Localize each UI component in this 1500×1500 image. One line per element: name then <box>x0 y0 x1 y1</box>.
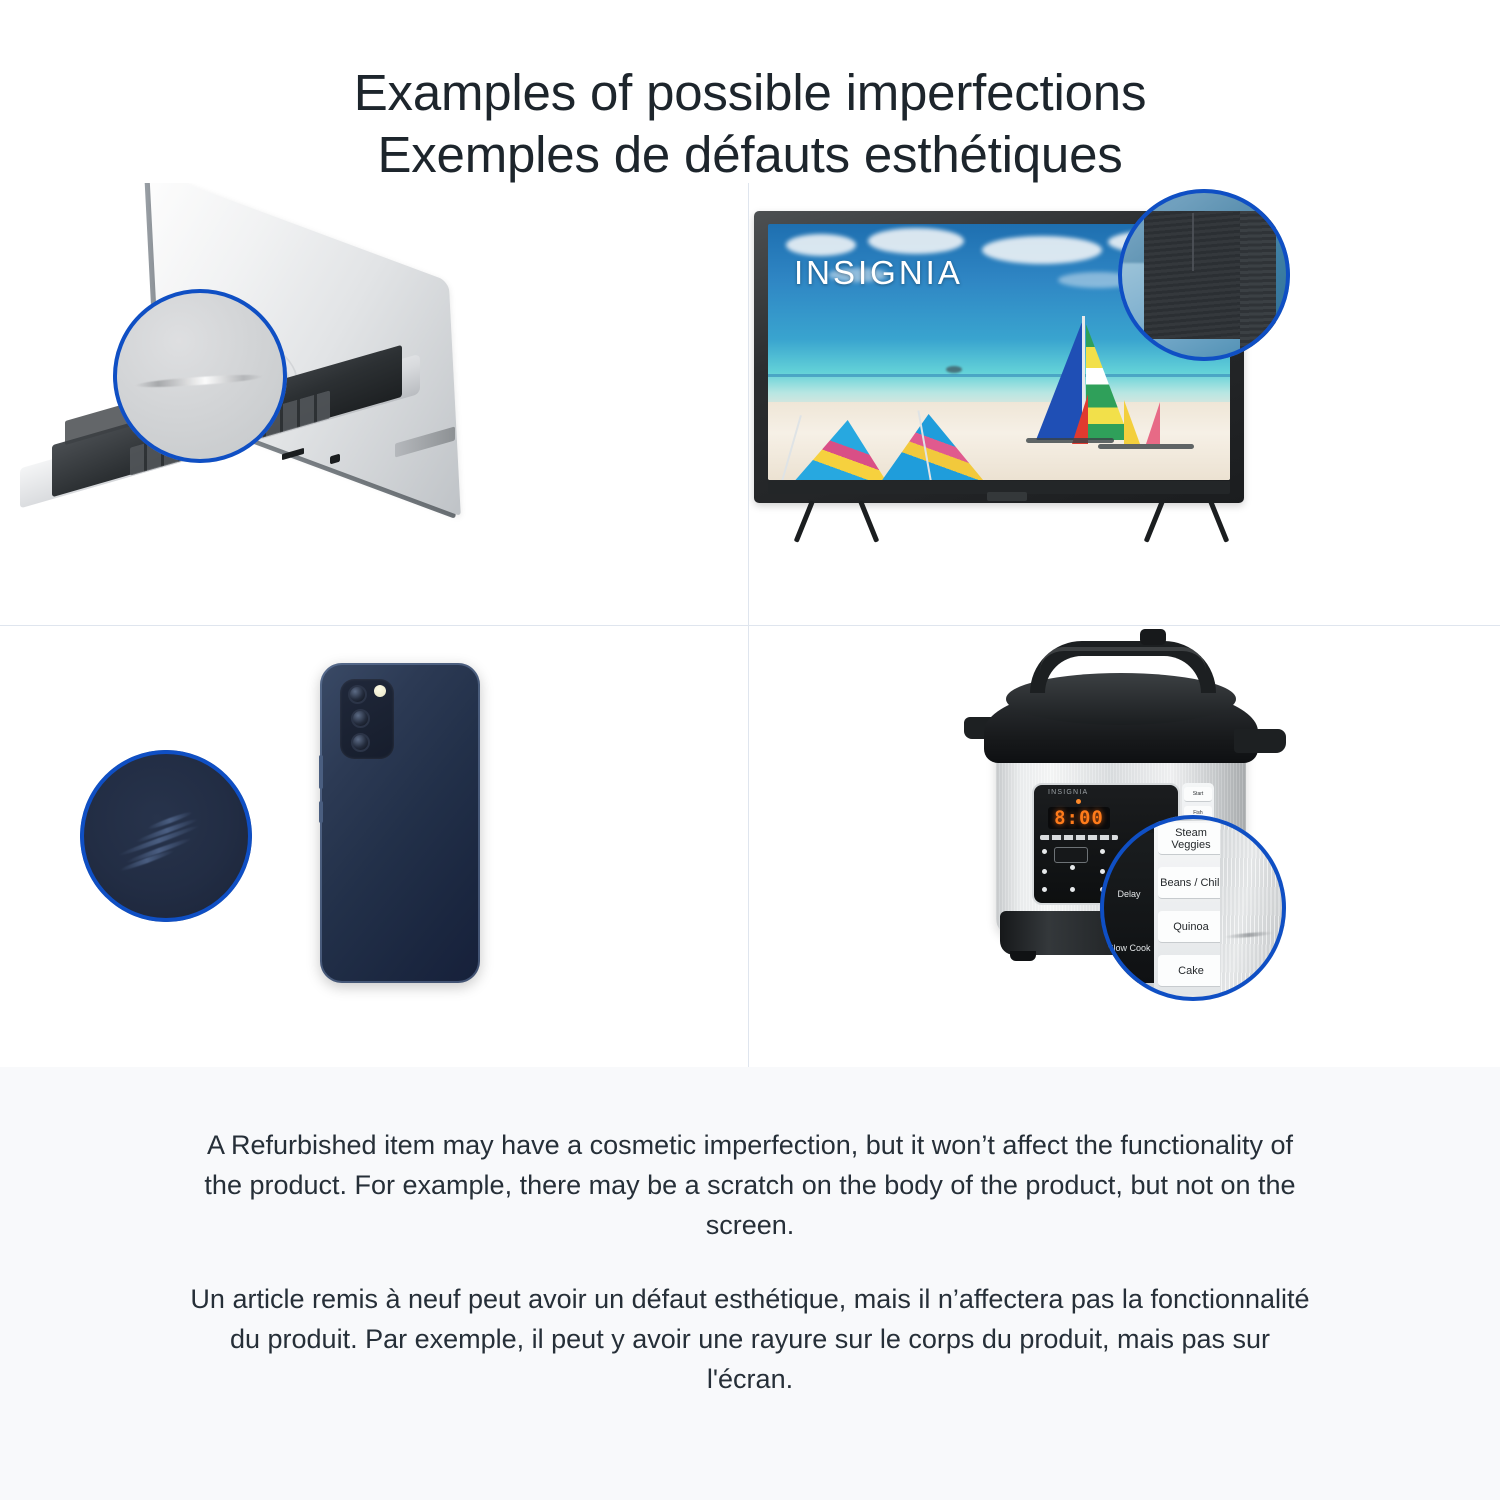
phone-power-button <box>319 801 323 823</box>
product-example-grid: INSIGNIA <box>0 183 1500 1067</box>
cooker-button-dot[interactable] <box>1070 865 1075 870</box>
cooker-side-handle-right <box>1234 729 1286 753</box>
grid-cell-television: INSIGNIA <box>748 183 1500 625</box>
tv-stand-leg-left <box>802 501 876 545</box>
page-header: Examples of possible imperfections Exemp… <box>0 0 1500 183</box>
pressure-cooker-illustration: INSIGNIA 8:00 Start Fish <box>748 625 1500 1067</box>
cooker-steam-valve <box>1140 629 1166 645</box>
camera-lens-icon <box>348 685 367 704</box>
cooker-button-dot[interactable] <box>1042 869 1047 874</box>
laptop-magnifier-ring <box>113 289 287 463</box>
sailboat-hull <box>1026 438 1114 443</box>
cooker-left-button-column[interactable] <box>1010 787 1032 905</box>
cooker-digital-display: 8:00 <box>1048 807 1110 829</box>
page-footer: A Refurbished item may have a cosmetic i… <box>0 1067 1500 1500</box>
grid-cell-smartphone <box>0 625 748 1067</box>
tv-badge <box>987 492 1027 501</box>
cooker-button-dot[interactable] <box>1070 887 1075 892</box>
tv-brand-logo: INSIGNIA <box>794 254 963 292</box>
phone-volume-button <box>319 755 323 789</box>
cooker-foot <box>1010 951 1036 961</box>
tv-stand-leg-right <box>1152 501 1226 545</box>
cloud-shape <box>982 236 1102 264</box>
laptop-illustration <box>0 183 748 625</box>
cooker-button-dot[interactable] <box>1042 849 1047 854</box>
camera-flash-icon <box>374 685 386 697</box>
tv-magnifier-ring <box>1118 189 1290 361</box>
footer-paragraph-en: A Refurbished item may have a cosmetic i… <box>190 1125 1310 1245</box>
sailboat-sail-blue <box>1036 322 1082 440</box>
infographic-page: Examples of possible imperfections Exemp… <box>0 0 1500 1500</box>
camera-lens-icon <box>351 709 370 728</box>
phone-magnifier-ring <box>80 750 252 922</box>
distant-island <box>946 366 962 373</box>
television-illustration: INSIGNIA <box>748 183 1500 625</box>
grid-cell-pressure-cooker: INSIGNIA 8:00 Start Fish <box>748 625 1500 1067</box>
cooker-button-dot[interactable] <box>1042 887 1047 892</box>
cooker-display-value: 8:00 <box>1054 807 1104 829</box>
footer-paragraph-fr: Un article remis à neuf peut avoir un dé… <box>190 1279 1310 1399</box>
smartphone-illustration <box>0 625 748 1067</box>
cooker-magnifier-ring <box>1100 815 1286 1001</box>
cooker-status-led-icon <box>1076 799 1081 804</box>
camera-lens-icon <box>351 733 370 752</box>
cloud-shape <box>868 228 964 254</box>
page-title-fr: Exemples de défauts esthétiques <box>0 124 1500 186</box>
tv-horizon-line <box>768 374 1230 377</box>
cloud-shape <box>786 234 856 256</box>
cooker-brand-logo: INSIGNIA <box>1048 789 1088 796</box>
cooker-preset-button[interactable] <box>1054 847 1088 863</box>
cooker-handle-highlight <box>1040 647 1206 671</box>
cooker-button-start[interactable]: Start <box>1184 787 1212 802</box>
grid-horizontal-divider <box>0 625 1500 626</box>
grid-cell-laptop <box>0 183 748 625</box>
sailboat-hull <box>1098 444 1194 449</box>
page-title-en: Examples of possible imperfections <box>0 62 1500 124</box>
tv-magnifier-green-sail <box>1120 337 1146 361</box>
